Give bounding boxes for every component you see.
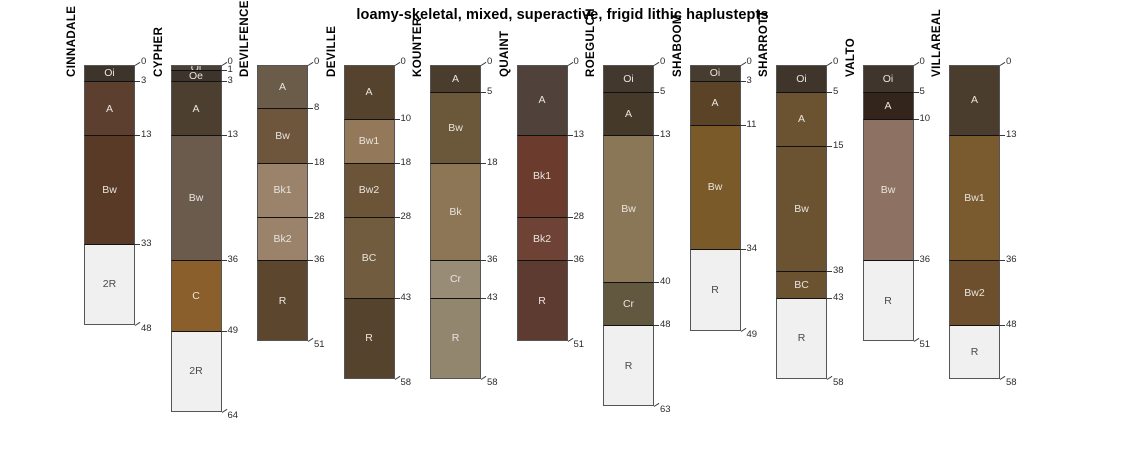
horizon-label: A: [365, 87, 372, 98]
axis-tick: [308, 62, 314, 66]
axis-tick: [222, 331, 227, 332]
horizon-label: Bw: [102, 185, 117, 196]
axis-tick: [222, 70, 227, 71]
axis-tick-label: 33: [141, 239, 152, 249]
horizon-label: Bk1: [533, 171, 551, 182]
axis-tick: [827, 376, 833, 380]
axis-tick-label: 0: [314, 57, 319, 67]
axis-tick: [741, 249, 746, 250]
axis-tick: [827, 271, 832, 272]
axis-tick: [395, 119, 400, 120]
axis-tick: [827, 298, 832, 299]
axis-tick-label: 3: [141, 76, 146, 86]
soil-horizon: BC: [344, 217, 395, 298]
axis-tick-label: 0: [401, 57, 406, 67]
soil-horizon: R: [690, 249, 741, 330]
axis-tick-label: 13: [660, 130, 671, 140]
axis-tick: [914, 119, 919, 120]
axis-tick: [481, 298, 486, 299]
axis-tick: [135, 322, 141, 326]
soil-horizon: A: [344, 65, 395, 119]
axis-tick-label: 36: [920, 255, 931, 265]
axis-tick-label: 13: [228, 130, 239, 140]
horizon-label: A: [798, 114, 805, 125]
axis-tick-label: 18: [401, 158, 412, 168]
soil-horizon: A: [949, 65, 1000, 135]
horizon-label: R: [625, 361, 633, 372]
horizon-label: Bk2: [533, 234, 551, 245]
horizon-label: A: [884, 101, 891, 112]
axis-tick-label: 0: [660, 57, 665, 67]
profile-name-label: CYPHER: [153, 27, 165, 77]
axis-tick-label: 18: [314, 158, 325, 168]
axis-tick: [914, 92, 919, 93]
axis-tick-label: 0: [920, 57, 925, 67]
horizon-label: R: [279, 296, 287, 307]
axis-tick: [741, 125, 746, 126]
axis-tick: [654, 403, 660, 407]
soil-horizon: Bk2: [257, 217, 308, 260]
soil-horizon: Cr: [603, 282, 654, 325]
axis-tick: [308, 108, 313, 109]
soil-horizon: Bw: [171, 135, 222, 260]
horizon-label: R: [798, 333, 806, 344]
axis-tick: [481, 163, 486, 164]
soil-horizon: Oi: [603, 65, 654, 92]
horizon-label: A: [711, 98, 718, 109]
horizon-label: Bw: [794, 204, 809, 215]
axis-tick-label: 0: [833, 57, 838, 67]
soil-profile-plot: CINNADALEOiABw2R03133348CYPHEROiOeABwC2R…: [0, 0, 1125, 450]
soil-horizon: R: [257, 260, 308, 341]
soil-horizon: Oi: [84, 65, 135, 81]
profile-name-label: QUAINT: [499, 31, 511, 77]
soil-horizon: Cr: [430, 260, 481, 298]
horizon-label: C: [192, 291, 200, 302]
axis-tick-label: 48: [1006, 320, 1017, 330]
axis-tick-label: 58: [401, 378, 412, 388]
axis-tick: [568, 217, 573, 218]
soil-horizon: R: [517, 260, 568, 341]
axis-tick: [567, 338, 573, 342]
axis-tick-label: 0: [487, 57, 492, 67]
axis-tick-label: 13: [574, 130, 585, 140]
horizon-label: Bw2: [964, 288, 984, 299]
axis-tick-label: 51: [314, 340, 325, 350]
soil-horizon: Bw: [776, 146, 827, 271]
horizon-label: A: [625, 109, 632, 120]
axis-tick-label: 51: [920, 340, 931, 350]
horizon-label: Bw: [708, 182, 723, 193]
soil-horizon: R: [949, 325, 1000, 379]
axis-tick: [1000, 260, 1005, 261]
axis-tick-label: 5: [660, 87, 665, 97]
axis-tick: [394, 62, 400, 66]
horizon-label: Bw: [881, 185, 896, 196]
profile-name-label: SHABOOM: [672, 14, 684, 77]
axis-tick-label: 36: [487, 255, 498, 265]
axis-tick: [222, 260, 227, 261]
horizon-label: Bw: [189, 193, 204, 204]
soil-horizon: A: [171, 81, 222, 135]
horizon-label: Bw2: [359, 185, 379, 196]
horizon-label: Bk2: [273, 234, 291, 245]
horizon-label: R: [365, 333, 373, 344]
horizon-label: Bw: [448, 123, 463, 134]
horizon-label: BC: [362, 253, 377, 264]
axis-tick-label: 13: [1006, 130, 1017, 140]
axis-tick: [741, 81, 746, 82]
profile-name-label: DEVILLE: [326, 26, 338, 77]
axis-tick-label: 36: [1006, 255, 1017, 265]
horizon-label: Cr: [450, 274, 461, 285]
axis-tick: [913, 62, 919, 66]
axis-tick: [308, 338, 314, 342]
soil-horizon: Bw: [603, 135, 654, 281]
soil-horizon: Bk1: [517, 135, 568, 216]
horizon-label: Bw: [621, 204, 636, 215]
horizon-label: R: [971, 347, 979, 358]
profile-name-label: SHARROTT: [758, 10, 770, 77]
soil-horizon: BC: [776, 271, 827, 298]
horizon-label: Oi: [710, 68, 721, 79]
soil-horizon: Oi: [776, 65, 827, 92]
profile-name-label: KOUNTER: [412, 17, 424, 77]
axis-tick-label: 0: [747, 57, 752, 67]
profile-name-label: DEVILFENCE: [239, 0, 251, 77]
horizon-label: Bk1: [273, 185, 291, 196]
axis-tick-label: 43: [487, 293, 498, 303]
axis-tick: [654, 62, 660, 66]
axis-tick-label: 58: [833, 378, 844, 388]
profile-name-label: CINNADALE: [66, 6, 78, 77]
soil-horizon: A: [603, 92, 654, 135]
axis-tick: [568, 260, 573, 261]
axis-tick-label: 49: [747, 330, 758, 340]
profile-name-label: VALTO: [845, 38, 857, 77]
axis-tick: [568, 135, 573, 136]
axis-tick: [1000, 62, 1006, 66]
profile-name-label: VILLAREAL: [931, 9, 943, 77]
axis-tick: [308, 163, 313, 164]
axis-tick: [308, 260, 313, 261]
soil-horizon: R: [344, 298, 395, 379]
axis-tick-label: 36: [574, 255, 585, 265]
horizon-label: A: [452, 74, 459, 85]
soil-horizon: A: [84, 81, 135, 135]
soil-horizon: A: [430, 65, 481, 92]
axis-tick-label: 0: [141, 57, 146, 67]
axis-tick: [827, 146, 832, 147]
axis-tick: [221, 409, 227, 413]
axis-tick: [135, 135, 140, 136]
axis-tick-label: 15: [833, 141, 844, 151]
axis-tick: [481, 260, 486, 261]
soil-horizon: A: [776, 92, 827, 146]
axis-tick-label: 1: [228, 65, 233, 75]
axis-tick-label: 63: [660, 405, 671, 415]
axis-tick-label: 28: [314, 212, 325, 222]
axis-tick: [567, 62, 573, 66]
axis-tick: [135, 244, 140, 245]
axis-tick-label: 58: [487, 378, 498, 388]
horizon-label: Oi: [104, 68, 115, 79]
axis-tick: [827, 92, 832, 93]
soil-horizon: R: [430, 298, 481, 379]
soil-horizon: C: [171, 260, 222, 330]
axis-tick: [1000, 325, 1005, 326]
horizon-label: A: [279, 82, 286, 93]
soil-horizon: Bk2: [517, 217, 568, 260]
horizon-label: R: [538, 296, 546, 307]
axis-tick-label: 18: [487, 158, 498, 168]
axis-tick-label: 43: [401, 293, 412, 303]
soil-horizon: Bw2: [344, 163, 395, 217]
axis-tick-label: 8: [314, 103, 319, 113]
horizon-label: Bw1: [964, 193, 984, 204]
horizon-label: 2R: [189, 366, 202, 377]
axis-tick-label: 36: [228, 255, 239, 265]
axis-tick: [1000, 135, 1005, 136]
soil-horizon: Oi: [863, 65, 914, 92]
soil-horizon: Bw: [430, 92, 481, 162]
profile-name-label: ROEGULCH: [585, 8, 597, 77]
axis-tick-label: 5: [833, 87, 838, 97]
axis-tick: [395, 217, 400, 218]
horizon-label: R: [711, 285, 719, 296]
horizon-label: Bw: [275, 131, 290, 142]
depth-axis: 013364858: [1000, 0, 1040, 450]
axis-tick-label: 49: [228, 326, 239, 336]
soil-horizon: Bw: [863, 119, 914, 260]
axis-tick-label: 5: [487, 87, 492, 97]
axis-tick-label: 58: [1006, 378, 1017, 388]
axis-tick: [221, 62, 227, 66]
axis-tick: [654, 282, 659, 283]
horizon-label: Oi: [883, 74, 894, 85]
axis-tick: [135, 81, 140, 82]
axis-tick-label: 3: [228, 76, 233, 86]
axis-tick: [481, 376, 487, 380]
axis-tick-label: 48: [141, 324, 152, 334]
axis-tick-label: 28: [574, 212, 585, 222]
axis-tick-label: 40: [660, 277, 671, 287]
axis-tick: [481, 62, 487, 66]
axis-tick-label: 43: [833, 293, 844, 303]
soil-horizon: A: [690, 81, 741, 124]
axis-tick: [395, 298, 400, 299]
soil-horizon: R: [776, 298, 827, 379]
horizon-label: BC: [794, 280, 809, 291]
soil-horizon: Oi: [690, 65, 741, 81]
axis-tick-label: 5: [920, 87, 925, 97]
axis-tick-label: 3: [747, 76, 752, 86]
horizon-label: Oe: [189, 71, 203, 81]
axis-tick: [222, 135, 227, 136]
axis-tick: [654, 325, 659, 326]
axis-tick-label: 0: [1006, 57, 1011, 67]
soil-horizon: Bw1: [344, 119, 395, 162]
axis-tick-label: 13: [141, 130, 152, 140]
axis-tick-label: 38: [833, 266, 844, 276]
axis-tick-label: 48: [660, 320, 671, 330]
horizon-label: Oi: [623, 74, 634, 85]
axis-tick: [827, 62, 833, 66]
axis-tick: [654, 92, 659, 93]
soil-horizon: Bk: [430, 163, 481, 261]
soil-horizon: 2R: [171, 331, 222, 412]
soil-horizon: Oe: [171, 70, 222, 81]
axis-tick-label: 0: [574, 57, 579, 67]
axis-tick: [740, 62, 746, 66]
horizon-label: A: [538, 95, 545, 106]
axis-tick: [395, 163, 400, 164]
soil-horizon: R: [603, 325, 654, 406]
axis-tick: [914, 260, 919, 261]
axis-tick-label: 10: [401, 114, 412, 124]
horizon-label: Bw1: [359, 136, 379, 147]
horizon-label: A: [192, 104, 199, 115]
axis-tick: [222, 81, 227, 82]
horizon-label: A: [971, 95, 978, 106]
axis-tick: [740, 327, 746, 331]
axis-tick: [481, 92, 486, 93]
horizon-label: R: [452, 333, 460, 344]
horizon-label: Cr: [623, 299, 634, 310]
axis-tick-label: 34: [747, 244, 758, 254]
soil-horizon: Bw: [257, 108, 308, 162]
axis-tick: [394, 376, 400, 380]
axis-tick-label: 51: [574, 340, 585, 350]
axis-tick: [135, 62, 141, 66]
soil-horizon: Bw: [690, 125, 741, 250]
horizon-label: 2R: [103, 279, 116, 290]
axis-tick-label: 11: [747, 120, 757, 130]
soil-horizon: 2R: [84, 244, 135, 325]
axis-tick-label: 28: [401, 212, 412, 222]
soil-horizon: Bw2: [949, 260, 1000, 325]
soil-horizon: R: [863, 260, 914, 341]
axis-tick: [308, 217, 313, 218]
soil-horizon: Bw: [84, 135, 135, 243]
axis-tick: [1000, 376, 1006, 380]
soil-horizon: A: [257, 65, 308, 108]
horizon-label: R: [884, 296, 892, 307]
soil-horizon: Bk1: [257, 163, 308, 217]
axis-tick-label: 10: [920, 114, 931, 124]
axis-tick: [654, 135, 659, 136]
soil-horizon: A: [517, 65, 568, 135]
axis-tick: [913, 338, 919, 342]
horizon-label: Bk: [449, 207, 461, 218]
soil-horizon: Bw1: [949, 135, 1000, 260]
horizon-label: A: [106, 104, 113, 115]
axis-tick-label: 64: [228, 411, 239, 421]
horizon-label: Oi: [796, 74, 807, 85]
soil-horizon: A: [863, 92, 914, 119]
axis-tick-label: 36: [314, 255, 325, 265]
